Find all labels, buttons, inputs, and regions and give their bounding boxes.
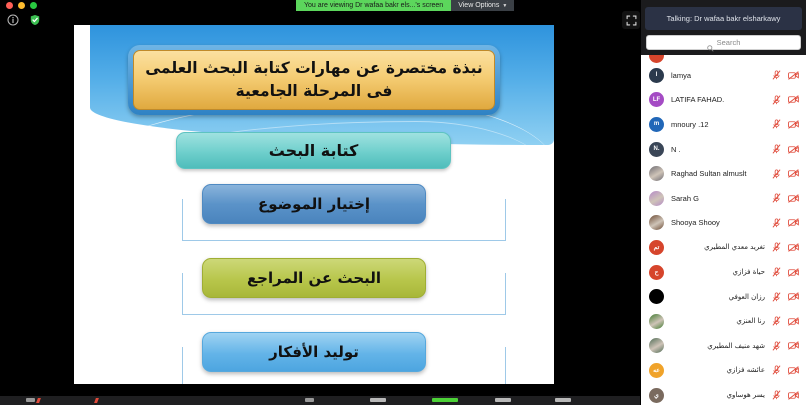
microphone-muted-icon[interactable] (772, 70, 781, 80)
reactions-button-icon[interactable] (555, 398, 571, 402)
camera-off-icon[interactable] (788, 218, 799, 227)
fullscreen-icon[interactable] (622, 11, 640, 29)
camera-off-icon[interactable] (788, 341, 799, 350)
info-icon[interactable] (6, 13, 19, 26)
camera-off-icon[interactable] (788, 169, 799, 178)
participant-status-icons (772, 365, 799, 375)
participant-row[interactable]: ييسر هوساوي (641, 383, 806, 405)
slide-title-text: نبذة مختصرة عن مهارات كتابة البحث العلمى… (134, 57, 494, 104)
microphone-muted-icon[interactable] (772, 390, 781, 400)
presentation-slide: نبذة مختصرة عن مهارات كتابة البحث العلمى… (74, 25, 554, 384)
meeting-toolbar[interactable] (0, 396, 640, 405)
participant-row[interactable]: رنا العنزي (641, 309, 806, 334)
microphone-muted-icon[interactable] (772, 316, 781, 326)
slide-subtitle-box: كتابة البحث (176, 132, 451, 169)
avatar (649, 289, 664, 304)
participant-status-icons (772, 292, 799, 302)
chevron-down-icon: ▼ (502, 3, 507, 9)
participant-status-icons (772, 144, 799, 154)
talking-status-text: Talking: Dr wafaa bakr elsharkawy (667, 14, 781, 23)
participant-status-icons (772, 242, 799, 252)
search-input[interactable]: Search (646, 35, 801, 50)
camera-off-icon[interactable] (788, 366, 799, 375)
participant-name: عائشه فزازي (671, 366, 765, 374)
participant-row[interactable]: LFLATIFA FAHAD. (641, 88, 806, 113)
participant-name: mnoury .12 (671, 120, 765, 129)
participant-row[interactable]: Sarah G (641, 186, 806, 211)
participant-status-icons (772, 218, 799, 228)
participant-status-icons (772, 390, 799, 400)
talking-status-badge: Talking: Dr wafaa bakr elsharkawy (645, 7, 802, 30)
share-screen-button-icon[interactable] (432, 398, 458, 402)
camera-off-icon[interactable] (788, 95, 799, 104)
avatar (649, 314, 664, 329)
search-area: Search (641, 35, 806, 55)
screen-share-bar: You are viewing Dr wafaa bakr els...'s s… (296, 0, 514, 11)
camera-off-icon[interactable] (788, 292, 799, 301)
participant-name: رنا العنزي (671, 317, 765, 325)
camera-off-icon[interactable] (788, 317, 799, 326)
microphone-muted-icon[interactable] (772, 341, 781, 351)
slide-item-2-label: البحث عن المراجع (247, 269, 381, 287)
camera-off-icon[interactable] (788, 145, 799, 154)
avatar (649, 215, 664, 230)
camera-off-icon[interactable] (788, 194, 799, 203)
participant-name: رزان العوفي (671, 293, 765, 301)
avatar: l (649, 68, 664, 83)
shared-screen-stage: نبذة مختصرة عن مهارات كتابة البحث العلمى… (0, 11, 640, 394)
mute-button-icon[interactable] (26, 398, 35, 402)
slide-item-1: إختيار الموضوع (202, 184, 426, 224)
participant-status-icons (772, 316, 799, 326)
participant-row[interactable]: تمتغريد معدي المطيري (641, 235, 806, 260)
participant-name: حياة فزازي (671, 268, 765, 276)
participant-row[interactable]: Raghad Sultan almuslt (641, 161, 806, 186)
window-controls[interactable] (6, 2, 37, 9)
participant-row[interactable]: رزان العوفي (641, 284, 806, 309)
participant-status-icons (772, 119, 799, 129)
participant-name: lamya (671, 71, 765, 80)
participant-status-icons (772, 193, 799, 203)
avatar: عه (649, 363, 664, 378)
microphone-muted-icon[interactable] (772, 95, 781, 105)
microphone-muted-icon[interactable]: ⚊ (770, 55, 776, 57)
screen-share-message: You are viewing Dr wafaa bakr els...'s s… (296, 0, 451, 11)
slide-item-2: البحث عن المراجع (202, 258, 426, 298)
camera-off-icon[interactable] (788, 71, 799, 80)
participant-row-partial[interactable]: ⚊ ⚊ (641, 55, 806, 63)
participant-status-icons (772, 95, 799, 105)
microphone-muted-icon[interactable] (772, 169, 781, 179)
camera-off-icon[interactable] (788, 268, 799, 277)
camera-off-icon[interactable] (788, 120, 799, 129)
avatar: ح (649, 265, 664, 280)
avatar (649, 55, 664, 63)
slide-subtitle-text: كتابة البحث (269, 141, 359, 160)
participant-list[interactable]: llamyaLFLATIFA FAHAD.mmnoury .12N.N .Rag… (641, 63, 806, 405)
avatar (649, 166, 664, 181)
participant-status-icons (772, 341, 799, 351)
participant-status-icons (772, 267, 799, 277)
participant-name: N . (671, 145, 765, 154)
slide-title-box: نبذة مختصرة عن مهارات كتابة البحث العلمى… (128, 45, 500, 115)
camera-off-icon[interactable] (788, 391, 799, 400)
participant-row[interactable]: llamya (641, 63, 806, 88)
slide-item-3-label: توليد الأفكار (269, 343, 359, 361)
participants-button-icon[interactable] (305, 398, 314, 402)
search-placeholder: Search (717, 38, 741, 47)
view-options-button[interactable]: View Options ▼ (451, 0, 514, 11)
participants-panel: Talking: Dr wafaa bakr elsharkawy Search… (640, 0, 806, 405)
microphone-muted-icon[interactable] (772, 242, 781, 252)
mute-slash-icon (36, 398, 41, 403)
record-button-icon[interactable] (495, 398, 511, 402)
zoom-button[interactable] (30, 2, 37, 9)
microphone-muted-icon[interactable] (772, 144, 781, 154)
participant-row[interactable]: شهد منيف المطيري (641, 334, 806, 359)
avatar: LF (649, 92, 664, 107)
participant-name: Shooya Shooy (671, 218, 765, 227)
avatar: m (649, 117, 664, 132)
participant-row[interactable]: N.N . (641, 137, 806, 162)
participant-name: تغريد معدي المطيري (671, 243, 765, 251)
participant-name: Sarah G (671, 194, 765, 203)
avatar: تم (649, 240, 664, 255)
camera-off-icon[interactable]: ⚊ (790, 55, 796, 57)
chat-button-icon[interactable] (370, 398, 386, 402)
microphone-muted-icon[interactable] (772, 218, 781, 228)
slide-item-3: توليد الأفكار (202, 332, 426, 372)
slide-item-1-label: إختيار الموضوع (258, 195, 370, 213)
view-options-label: View Options (458, 2, 499, 9)
participant-row[interactable]: mmnoury .12 (641, 112, 806, 137)
meeting-info-icons[interactable] (6, 13, 41, 26)
minimize-button[interactable] (18, 2, 25, 9)
participant-name: LATIFA FAHAD. (671, 95, 765, 104)
microphone-muted-icon[interactable] (772, 292, 781, 302)
avatar: N. (649, 142, 664, 157)
avatar (649, 338, 664, 353)
microphone-muted-icon[interactable] (772, 267, 781, 277)
camera-off-icon[interactable] (788, 243, 799, 252)
microphone-muted-icon[interactable] (772, 119, 781, 129)
participant-row[interactable]: Shooya Shooy (641, 211, 806, 236)
microphone-muted-icon[interactable] (772, 365, 781, 375)
avatar (649, 191, 664, 206)
participant-name: شهد منيف المطيري (671, 342, 765, 350)
avatar: ي (649, 388, 664, 403)
participant-row[interactable]: ححياة فزازي (641, 260, 806, 285)
video-slash-icon (94, 398, 99, 403)
search-icon (707, 39, 714, 46)
participant-name: Raghad Sultan almuslt (671, 169, 765, 178)
participant-name: يسر هوساوي (671, 391, 765, 399)
participant-status-icons (772, 70, 799, 80)
encryption-shield-icon[interactable] (28, 13, 41, 26)
close-button[interactable] (6, 2, 13, 9)
participant-status-icons (772, 169, 799, 179)
participant-row[interactable]: عهعائشه فزازي (641, 358, 806, 383)
zoom-meeting-window: You are viewing Dr wafaa bakr els...'s s… (0, 0, 806, 405)
microphone-muted-icon[interactable] (772, 193, 781, 203)
